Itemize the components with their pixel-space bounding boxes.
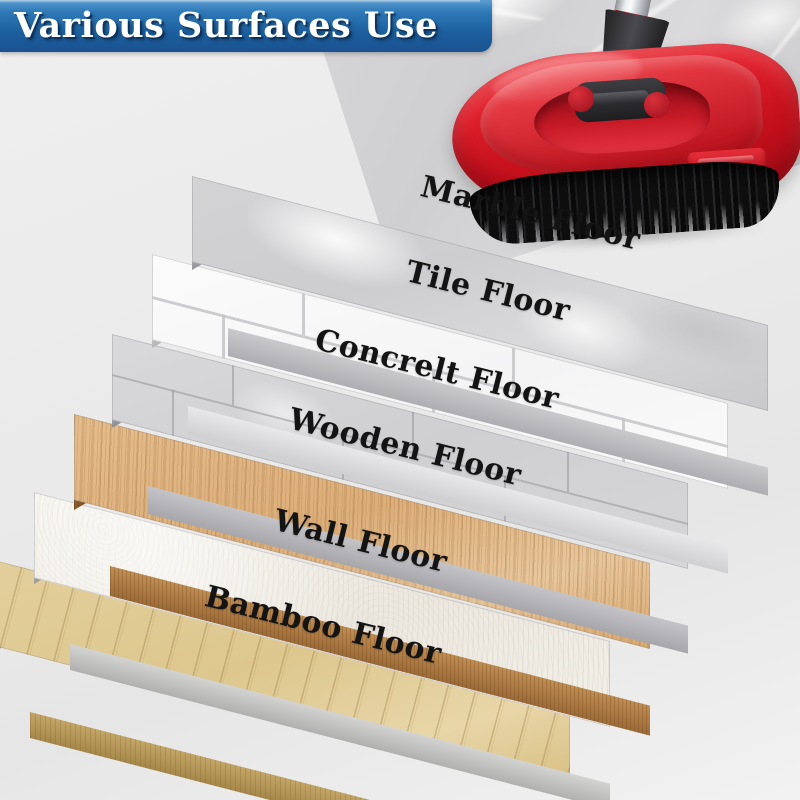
banner-sheen	[0, 0, 480, 3]
page-title: Various Surfaces Use	[0, 5, 438, 46]
brush-pivot-right	[644, 92, 670, 118]
infographic-canvas: Marble Floor Tile Floor Concrelt Floor W…	[0, 0, 800, 800]
brush-pivot-left	[568, 86, 594, 112]
title-banner: Various Surfaces Use	[0, 0, 492, 52]
